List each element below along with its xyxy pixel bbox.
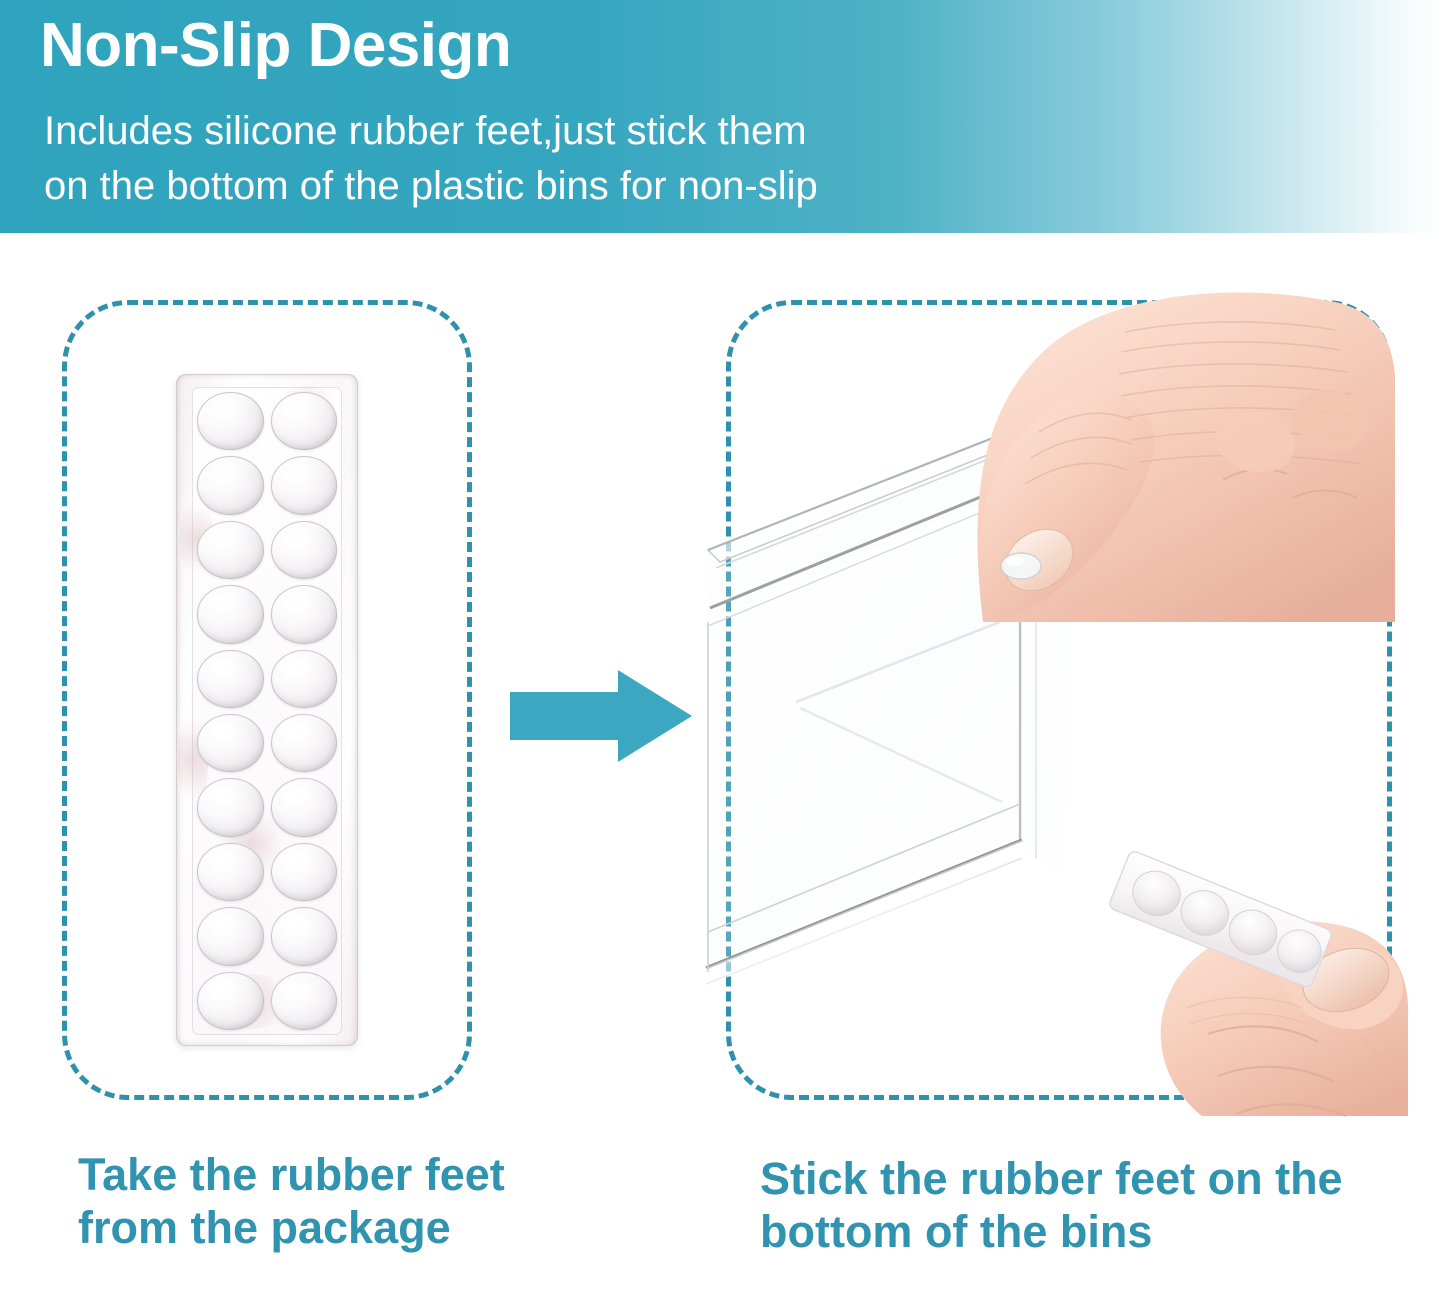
rubber-foot xyxy=(271,650,338,708)
rubber-foot xyxy=(197,778,264,836)
header-banner: Non-Slip Design Includes silicone rubber… xyxy=(0,0,1445,233)
rubber-foot xyxy=(197,714,264,772)
header-subtitle-line-1: Includes silicone rubber feet,just stick… xyxy=(44,104,818,159)
rubber-foot xyxy=(271,907,338,965)
rubber-feet-grid xyxy=(196,390,338,1032)
small-rubber-feet-strip xyxy=(1104,848,1334,998)
page-title: Non-Slip Design xyxy=(40,10,511,81)
header-subtitle-line-2: on the bottom of the plastic bins for no… xyxy=(44,159,818,214)
rubber-foot xyxy=(271,714,338,772)
rubber-foot xyxy=(197,456,264,514)
rubber-foot xyxy=(271,843,338,901)
step-flow-arrow-icon xyxy=(510,668,692,764)
rubber-foot xyxy=(271,778,338,836)
rubber-foot xyxy=(197,907,264,965)
rubber-feet-blister-pack xyxy=(176,374,358,1046)
rubber-foot xyxy=(271,392,338,450)
rubber-foot xyxy=(271,972,338,1030)
rubber-foot xyxy=(197,392,264,450)
rubber-foot xyxy=(271,521,338,579)
rubber-foot xyxy=(271,585,338,643)
rubber-foot xyxy=(197,521,264,579)
step-2-caption: Stick the rubber feet on the bottom of t… xyxy=(760,1152,1400,1258)
rubber-foot xyxy=(197,972,264,1030)
rubber-foot xyxy=(197,843,264,901)
rubber-foot-being-applied xyxy=(1000,550,1042,580)
step-1-caption: Take the rubber feet from the package xyxy=(78,1148,508,1254)
rubber-foot xyxy=(271,456,338,514)
header-subtitle: Includes silicone rubber feet,just stick… xyxy=(44,104,818,214)
rubber-foot xyxy=(197,650,264,708)
rubber-foot xyxy=(197,585,264,643)
